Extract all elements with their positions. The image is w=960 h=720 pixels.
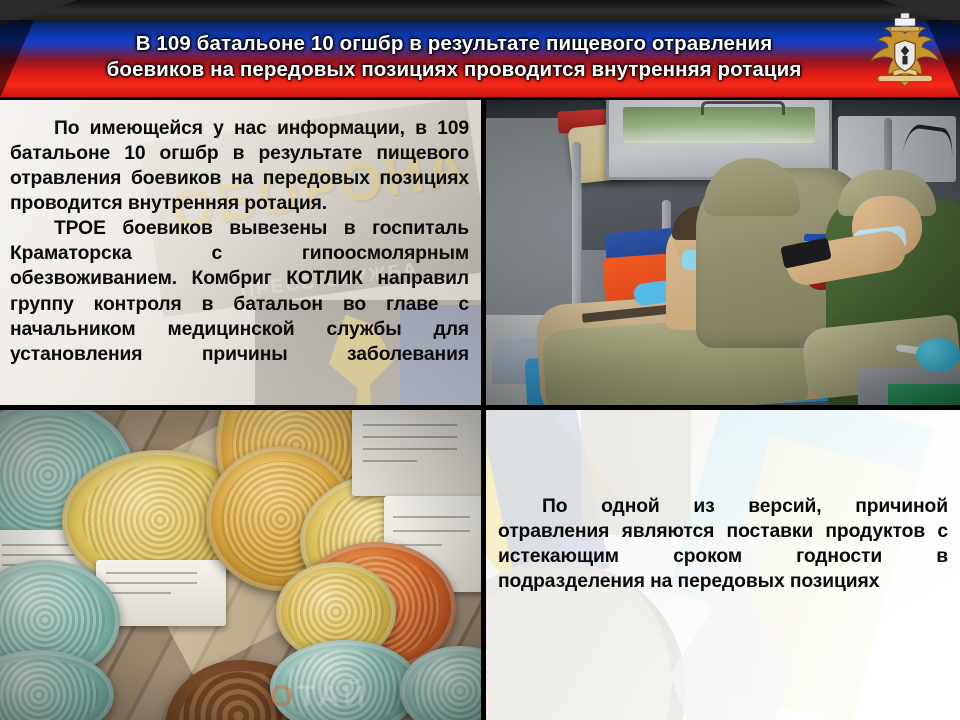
- secondary-text-paragraph-1: По одной из версий, причиной отравления …: [498, 494, 948, 594]
- page-title: В 109 батальоне 10 огшбр в результате пи…: [40, 22, 868, 92]
- main-text-paragraph-1: По имеющейся у нас информации, в 109 бат…: [10, 116, 469, 216]
- page-title-line-2: боевиков на передовых позициях проводитс…: [107, 59, 802, 82]
- main-text-body: По имеющейся у нас информации, в 109 бат…: [0, 100, 481, 400]
- main-text-panel: ОБОРОНА ПРЕСС-СЛУЖБА По имеющейся у нас …: [0, 100, 481, 405]
- ambulance-vignette: [486, 100, 960, 405]
- main-text-paragraph-2: ТРОЕ боевиков вывезены в госпиталь Крама…: [10, 216, 469, 392]
- ambulance-interior-photo: [486, 100, 960, 405]
- header-banner: В 109 батальоне 10 огшбр в результате пи…: [0, 0, 960, 97]
- secondary-text-panel: По одной из версий, причиной отравления …: [486, 410, 960, 720]
- secondary-text-body: По одной из версий, причиной отравления …: [486, 410, 960, 602]
- header-shade-left: [0, 20, 34, 97]
- slide-root: В 109 батальоне 10 огшбр в результате пи…: [0, 0, 960, 720]
- page-title-line-1: В 109 батальоне 10 огшбр в результате пи…: [136, 33, 773, 56]
- cans-vignette: [0, 410, 481, 720]
- cans-scene: ОТАЙ: [0, 410, 481, 720]
- canned-food-photo: ОТАЙ: [0, 410, 481, 720]
- header-top-strip: [0, 0, 960, 22]
- ambulance-scene: [486, 100, 960, 405]
- double-headed-eagle-emblem: [862, 8, 948, 90]
